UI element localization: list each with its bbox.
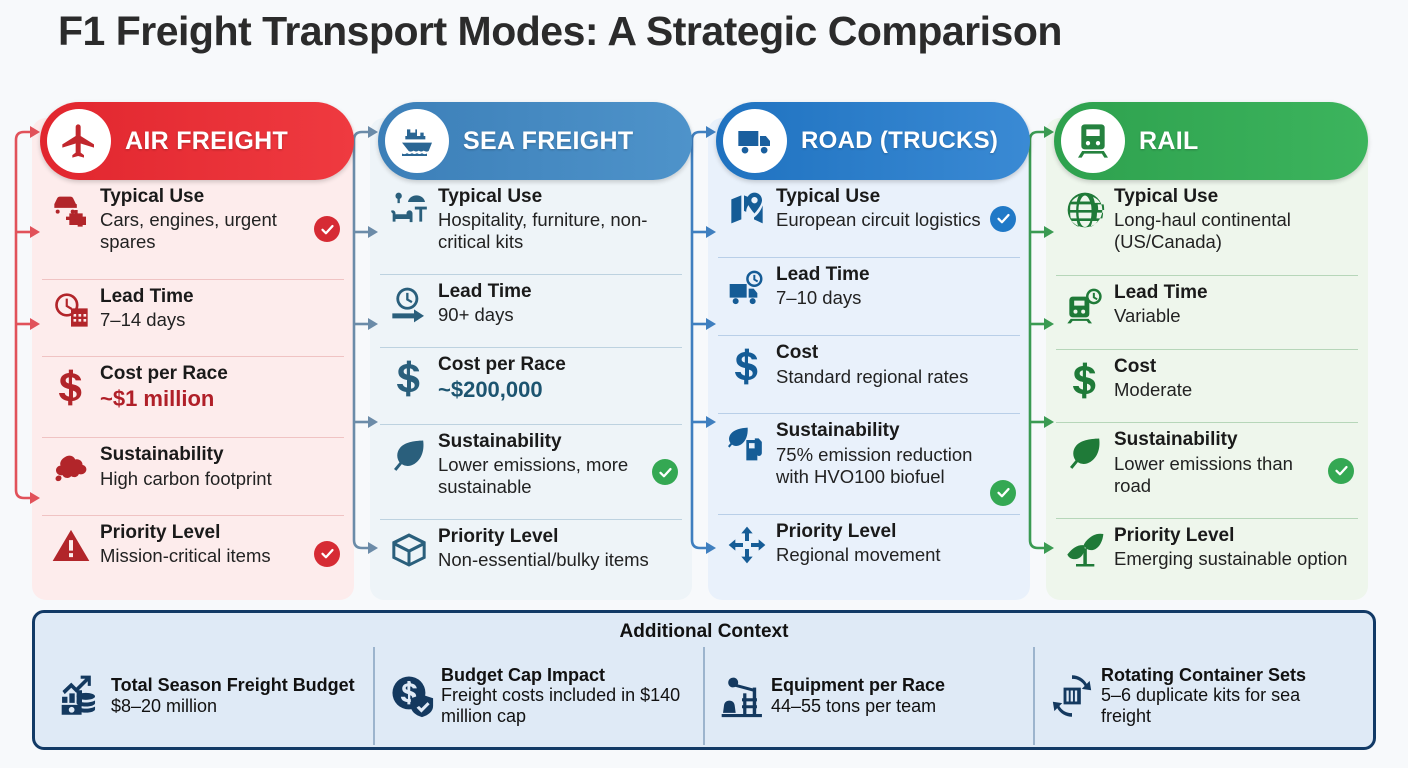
row-title: Typical Use <box>100 186 310 208</box>
row-text: SustainabilityHigh carbon footprint <box>100 444 340 489</box>
row-title: Lead Time <box>100 286 338 308</box>
dollar-icon-wrap <box>380 354 438 398</box>
row-description: Regional movement <box>776 544 1014 566</box>
row-text: Cost per Race~$1 million <box>100 363 340 413</box>
row-rail-typical-use: Typical UseLong-haul continental (US/Can… <box>1056 180 1358 275</box>
airplane-icon <box>47 109 111 173</box>
row-road-sustainability: Sustainability75% emission reduction wit… <box>718 413 1020 513</box>
row-title: Cost <box>1114 356 1352 378</box>
warning-triangle-icon-wrap <box>42 522 100 566</box>
dollar-icon-wrap <box>1056 356 1114 400</box>
context-item: Total Season Freight Budget$8–20 million <box>45 647 373 745</box>
context-item: Budget Cap ImpactFreight costs included … <box>373 647 703 745</box>
row-text: SustainabilityLower emissions, more sust… <box>438 431 650 499</box>
row-text: Priority LevelEmerging sustainable optio… <box>1114 525 1354 570</box>
row-description: 75% emission reduction with HVO100 biofu… <box>776 444 986 488</box>
row-title: Typical Use <box>438 186 676 208</box>
row-title: Priority Level <box>438 526 676 548</box>
leaf-fuel-icon <box>727 424 767 464</box>
row-air-sustainability: SustainabilityHigh carbon footprint <box>42 437 344 514</box>
row-title: Priority Level <box>776 521 1014 543</box>
column-air-freight: Typical UseCars, engines, urgent sparesL… <box>32 96 354 600</box>
leaf-icon <box>1065 433 1105 473</box>
context-item-text: Rotating Container Sets5–6 duplicate kit… <box>1101 665 1355 728</box>
cargo-ship-icon <box>385 109 449 173</box>
leaf-icon <box>389 435 429 475</box>
context-item-text: Total Season Freight Budget$8–20 million <box>111 675 365 717</box>
context-item-description: 44–55 tons per team <box>771 696 1025 717</box>
clock-calendar-icon-wrap <box>42 286 100 330</box>
car-engine-icon <box>51 190 91 230</box>
furniture-icon-wrap <box>380 186 438 230</box>
context-item-description: $8–20 million <box>111 696 365 717</box>
row-text: Lead Time7–10 days <box>776 264 1016 309</box>
header-label-road: ROAD (TRUCKS) <box>801 127 998 155</box>
dollar-shield-icon <box>389 673 435 719</box>
row-road-priority-level: Priority LevelRegional movement <box>718 514 1020 592</box>
page-title: F1 Freight Transport Modes: A Strategic … <box>58 8 1062 55</box>
row-road-lead-time: Lead Time7–10 days <box>718 257 1020 335</box>
row-title: Cost per Race <box>438 354 676 376</box>
column-rail: Typical UseLong-haul continental (US/Can… <box>1046 96 1368 600</box>
row-title: Sustainability <box>1114 429 1324 451</box>
train-icon <box>1061 109 1125 173</box>
context-item-title: Total Season Freight Budget <box>111 675 365 695</box>
row-rail-priority-level: Priority LevelEmerging sustainable optio… <box>1056 518 1358 592</box>
context-item-description: Freight costs included in $140 million c… <box>441 685 695 727</box>
row-title: Lead Time <box>1114 282 1352 304</box>
row-text: Typical UseEuropean circuit logistics <box>776 186 988 231</box>
column-body-road: Typical UseEuropean circuit logisticsLea… <box>708 118 1030 600</box>
four-arrows-icon-wrap <box>718 521 776 565</box>
row-description: Lower emissions than road <box>1114 453 1324 497</box>
row-description: Long-haul continental (US/Canada) <box>1114 209 1352 253</box>
row-text: Cost per Race~$200,000 <box>438 354 678 404</box>
row-sea-typical-use: Typical UseHospitality, furniture, non-c… <box>380 180 682 274</box>
context-item-title: Budget Cap Impact <box>441 665 695 685</box>
header-label-sea: SEA FREIGHT <box>463 127 633 156</box>
row-title: Cost per Race <box>100 363 338 385</box>
header-sea-freight[interactable]: SEA FREIGHT <box>378 102 692 180</box>
weight-crane-icon <box>719 673 765 719</box>
context-item-title: Rotating Container Sets <box>1101 665 1355 685</box>
header-air-freight[interactable]: AIR FREIGHT <box>40 102 354 180</box>
check-icon <box>314 541 340 567</box>
connector-arrows-sea <box>344 110 378 586</box>
dollar-shield-icon-wrap <box>383 673 441 719</box>
row-description: Hospitality, furniture, non-critical kit… <box>438 209 676 253</box>
row-text: Lead Time7–14 days <box>100 286 340 331</box>
row-description: Moderate <box>1114 379 1352 401</box>
row-title: Sustainability <box>438 431 648 453</box>
row-rail-sustainability: SustainabilityLower emissions than road <box>1056 422 1358 518</box>
row-rail-cost: CostModerate <box>1056 349 1358 423</box>
clock-arrow-icon <box>389 285 429 325</box>
container-refresh-icon <box>1049 673 1095 719</box>
row-text: Typical UseCars, engines, urgent spares <box>100 186 312 254</box>
row-description: ~$200,000 <box>438 377 676 403</box>
context-item-text: Equipment per Race44–55 tons per team <box>771 675 1025 717</box>
row-description: 7–10 days <box>776 287 1014 309</box>
row-description: Emerging sustainable option <box>1114 548 1352 570</box>
row-text: Lead TimeVariable <box>1114 282 1354 327</box>
truck-clock-icon-wrap <box>718 264 776 308</box>
four-arrows-icon <box>727 525 767 565</box>
truck-clock-icon <box>727 268 767 308</box>
globe-icon-wrap <box>1056 186 1114 230</box>
additional-context-items: Total Season Freight Budget$8–20 million… <box>45 647 1363 745</box>
box-icon <box>389 530 429 570</box>
row-text: SustainabilityLower emissions than road <box>1114 429 1326 497</box>
row-description: Cars, engines, urgent spares <box>100 209 310 253</box>
column-body-rail: Typical UseLong-haul continental (US/Can… <box>1046 118 1368 600</box>
row-title: Cost <box>776 342 1014 364</box>
container-refresh-icon-wrap <box>1043 673 1101 719</box>
header-road-trucks[interactable]: ROAD (TRUCKS) <box>716 102 1030 180</box>
row-description: High carbon footprint <box>100 468 338 490</box>
column-body-air: Typical UseCars, engines, urgent sparesL… <box>32 118 354 600</box>
row-description: 90+ days <box>438 304 676 326</box>
row-title: Priority Level <box>1114 525 1352 547</box>
header-label-rail: RAIL <box>1139 127 1199 156</box>
row-sea-priority-level: Priority LevelNon-essential/bulky items <box>380 519 682 592</box>
additional-context-title: Additional Context <box>45 621 1363 643</box>
leaf-icon-wrap <box>380 431 438 475</box>
row-description: ~$1 million <box>100 386 338 412</box>
row-title: Sustainability <box>100 444 338 466</box>
smoke-cloud-icon-wrap <box>42 444 100 488</box>
row-text: Lead Time90+ days <box>438 281 678 326</box>
dollar-icon <box>727 346 767 386</box>
connector-arrows-rail <box>1020 110 1054 586</box>
dollar-icon <box>389 358 429 398</box>
furniture-icon <box>389 190 429 230</box>
row-air-typical-use: Typical UseCars, engines, urgent spares <box>42 180 344 279</box>
sprout-icon-wrap <box>1056 525 1114 569</box>
row-title: Typical Use <box>1114 186 1352 208</box>
truck-icon <box>723 109 787 173</box>
dollar-icon-wrap <box>42 363 100 407</box>
map-pin-icon <box>727 190 767 230</box>
check-icon <box>652 459 678 485</box>
clock-arrow-icon-wrap <box>380 281 438 325</box>
weight-crane-icon-wrap <box>713 673 771 719</box>
warning-triangle-icon <box>51 526 91 566</box>
row-text: Typical UseLong-haul continental (US/Can… <box>1114 186 1354 254</box>
row-sea-cost-per-race: Cost per Race~$200,000 <box>380 347 682 424</box>
leaf-fuel-icon-wrap <box>718 420 776 464</box>
row-title: Lead Time <box>776 264 1014 286</box>
row-description: Lower emissions, more sustainable <box>438 454 648 498</box>
row-description: Mission-critical items <box>100 545 310 567</box>
context-item-description: 5–6 duplicate kits for sea freight <box>1101 685 1355 727</box>
column-road-trucks: Typical UseEuropean circuit logisticsLea… <box>708 96 1030 600</box>
row-sea-lead-time: Lead Time90+ days <box>380 274 682 347</box>
train-clock-icon-wrap <box>1056 282 1114 326</box>
context-item-text: Budget Cap ImpactFreight costs included … <box>441 665 695 728</box>
row-road-typical-use: Typical UseEuropean circuit logistics <box>718 180 1020 257</box>
row-road-cost: CostStandard regional rates <box>718 335 1020 413</box>
comparison-columns: Typical UseCars, engines, urgent sparesL… <box>32 96 1376 600</box>
row-text: CostStandard regional rates <box>776 342 1016 387</box>
row-rail-lead-time: Lead TimeVariable <box>1056 275 1358 349</box>
header-label-air: AIR FREIGHT <box>125 127 288 156</box>
box-icon-wrap <box>380 526 438 570</box>
sprout-icon <box>1065 529 1105 569</box>
row-title: Sustainability <box>776 420 986 442</box>
money-chart-icon-wrap <box>53 673 111 719</box>
row-description: Standard regional rates <box>776 366 1014 388</box>
column-body-sea: Typical UseHospitality, furniture, non-c… <box>370 118 692 600</box>
row-text: Priority LevelRegional movement <box>776 521 1016 566</box>
row-description: Variable <box>1114 305 1352 327</box>
row-title: Priority Level <box>100 522 310 544</box>
row-sea-sustainability: SustainabilityLower emissions, more sust… <box>380 424 682 519</box>
additional-context-panel: Additional Context Total Season Freight … <box>32 610 1376 750</box>
clock-calendar-icon <box>51 290 91 330</box>
row-text: Priority LevelNon-essential/bulky items <box>438 526 678 571</box>
row-description: Non-essential/bulky items <box>438 549 676 571</box>
map-pin-icon-wrap <box>718 186 776 230</box>
check-icon <box>990 480 1016 506</box>
row-text: Typical UseHospitality, furniture, non-c… <box>438 186 678 254</box>
row-air-priority-level: Priority LevelMission-critical items <box>42 515 344 592</box>
leaf-icon-wrap <box>1056 429 1114 473</box>
connector-arrows-air <box>6 110 40 586</box>
row-text: Priority LevelMission-critical items <box>100 522 312 567</box>
globe-icon <box>1065 190 1105 230</box>
money-chart-icon <box>59 673 105 719</box>
header-rail[interactable]: RAIL <box>1054 102 1368 180</box>
row-air-lead-time: Lead Time7–14 days <box>42 279 344 356</box>
context-item: Rotating Container Sets5–6 duplicate kit… <box>1033 647 1363 745</box>
context-item-title: Equipment per Race <box>771 675 1025 695</box>
dollar-icon <box>51 367 91 407</box>
smoke-cloud-icon <box>51 448 91 488</box>
dollar-icon-wrap <box>718 342 776 386</box>
check-icon <box>314 216 340 242</box>
check-icon <box>1328 458 1354 484</box>
column-sea-freight: Typical UseHospitality, furniture, non-c… <box>370 96 692 600</box>
check-icon <box>990 206 1016 232</box>
car-engine-icon-wrap <box>42 186 100 230</box>
row-text: Sustainability75% emission reduction wit… <box>776 420 988 488</box>
connector-arrows-road <box>682 110 716 586</box>
row-title: Lead Time <box>438 281 676 303</box>
row-description: 7–14 days <box>100 309 338 331</box>
row-air-cost-per-race: Cost per Race~$1 million <box>42 356 344 438</box>
row-text: CostModerate <box>1114 356 1354 401</box>
train-clock-icon <box>1065 286 1105 326</box>
context-item: Equipment per Race44–55 tons per team <box>703 647 1033 745</box>
row-description: European circuit logistics <box>776 209 986 231</box>
row-title: Typical Use <box>776 186 986 208</box>
dollar-icon <box>1065 360 1105 400</box>
